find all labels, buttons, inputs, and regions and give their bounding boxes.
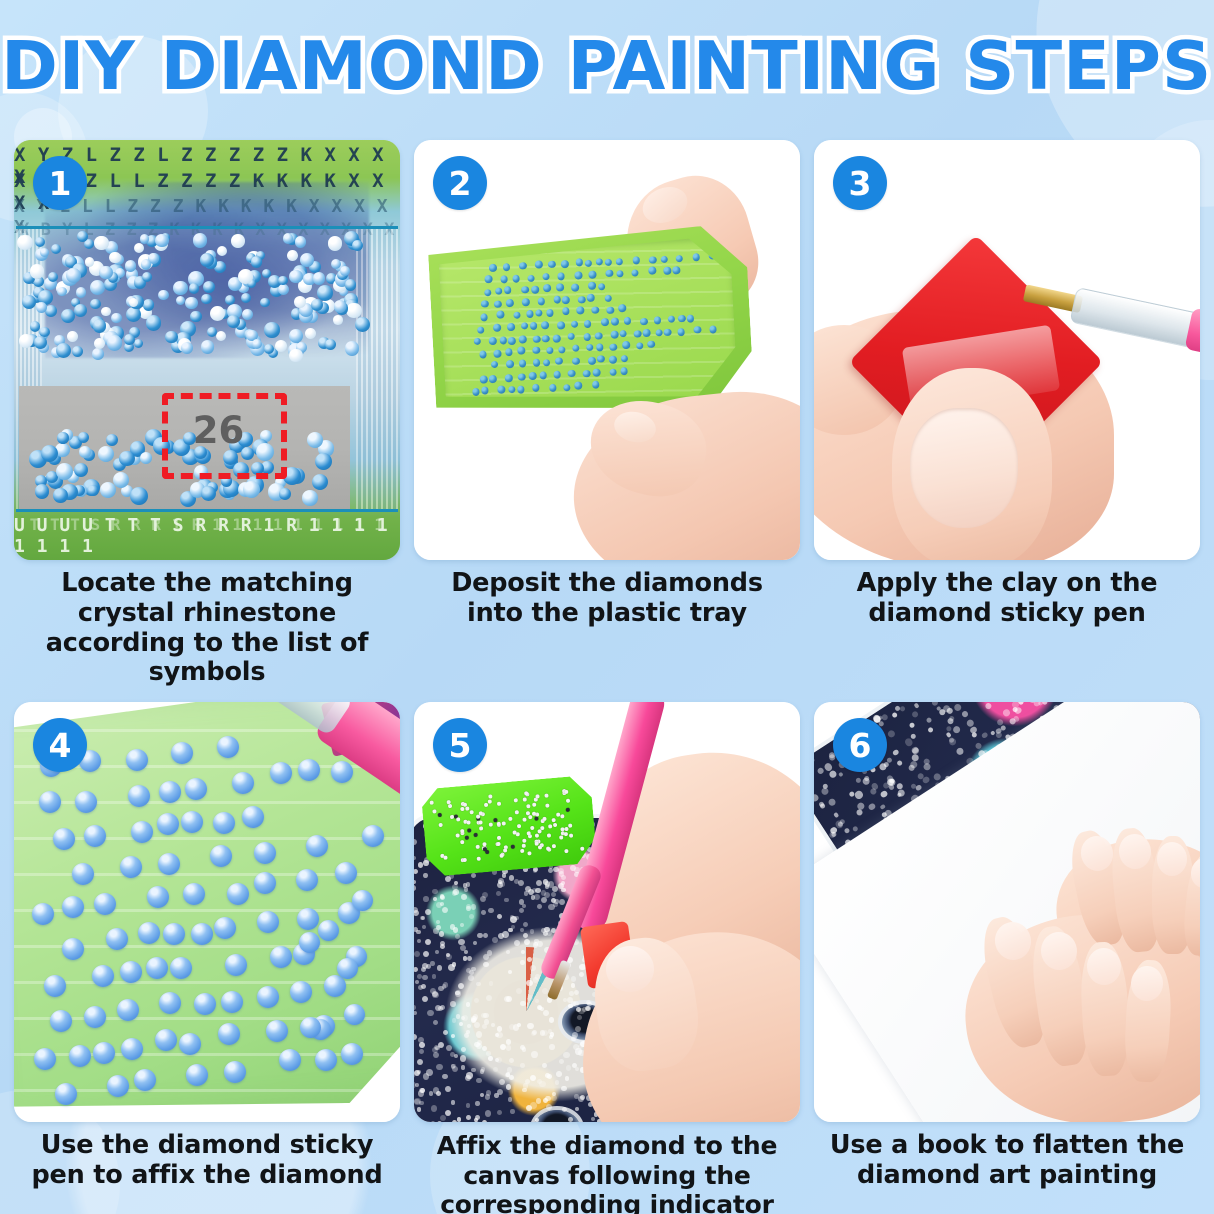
step-image-5: 5 — [414, 702, 800, 1122]
diamond — [510, 845, 514, 849]
diamond-texture-dot — [535, 974, 541, 980]
diamond-texture-dot — [561, 881, 565, 885]
diamond — [87, 485, 99, 497]
diamond-texture-dot — [855, 777, 862, 784]
diamond-texture-dot — [566, 1065, 571, 1070]
diamond-texture-dot — [540, 1030, 546, 1036]
diamond-texture-dot — [522, 1088, 527, 1093]
diamond — [275, 340, 287, 352]
diamond — [610, 331, 618, 339]
diamond — [90, 280, 105, 295]
diamond-texture-dot — [414, 1005, 416, 1010]
diamond — [141, 259, 152, 270]
diamond — [430, 800, 434, 804]
diamond — [497, 802, 501, 806]
diamond-texture-dot — [495, 1122, 500, 1123]
diamond — [535, 261, 543, 269]
diamond — [69, 1045, 91, 1067]
diamond-texture-dot — [423, 860, 429, 866]
diamond-texture-dot — [927, 727, 934, 734]
diamond — [120, 961, 142, 983]
diamond — [106, 434, 119, 447]
diamond — [201, 340, 214, 353]
diamond-texture-dot — [519, 899, 525, 905]
diamond — [22, 295, 36, 309]
diamond — [593, 369, 601, 377]
diamond — [448, 804, 452, 808]
diamond-texture-dot — [430, 988, 436, 994]
diamond-texture-dot — [587, 1002, 591, 1006]
diamond-texture-dot — [440, 944, 445, 949]
diamond-texture-dot — [573, 1001, 579, 1007]
diamond-texture-dot — [461, 894, 467, 900]
diamond-texture-dot — [498, 878, 504, 884]
diamond — [200, 253, 214, 267]
diamond-texture-dot — [422, 925, 427, 930]
diamond-texture-dot — [443, 982, 448, 987]
diamond — [341, 1043, 363, 1065]
diamond-texture-dot — [423, 873, 428, 878]
diamond-texture-dot — [440, 1115, 446, 1121]
diamond — [576, 307, 584, 315]
diamond-texture-dot — [458, 939, 464, 945]
diamond-texture-dot — [486, 1090, 491, 1095]
diamond-texture-dot — [568, 1004, 573, 1009]
diamond — [155, 1029, 177, 1051]
diamond-texture-dot — [867, 802, 876, 811]
diamond — [163, 923, 185, 945]
diamond — [544, 794, 548, 798]
diamond — [514, 798, 518, 802]
diamond — [147, 886, 169, 908]
diamond — [663, 267, 671, 275]
diamond-texture-dot — [533, 869, 537, 873]
diamond — [552, 818, 556, 822]
diamond — [74, 463, 88, 477]
diamond — [217, 736, 239, 758]
diamond — [287, 250, 298, 261]
diamond — [128, 785, 150, 807]
diamond-texture-dot — [892, 749, 900, 757]
step-caption-1: Locate the matching crystal rhinestone a… — [14, 560, 400, 688]
diamond — [193, 233, 208, 248]
diamond-texture-dot — [427, 1010, 433, 1016]
diamond — [305, 328, 316, 339]
diamond — [302, 490, 318, 506]
diamond — [134, 339, 143, 348]
diamond — [325, 339, 336, 350]
bag-beads-top — [16, 229, 398, 386]
diamond — [295, 236, 307, 248]
diamond-texture-dot — [922, 776, 931, 785]
diamond — [279, 488, 291, 500]
diamond — [596, 343, 604, 351]
diamond — [522, 817, 526, 821]
diamond — [541, 321, 549, 329]
diamond-texture-dot — [443, 1030, 448, 1035]
diamond — [518, 373, 526, 381]
diamond — [438, 813, 442, 817]
diamond — [94, 236, 108, 250]
diamond — [84, 825, 106, 847]
diamond — [548, 260, 556, 268]
diamond-texture-dot — [544, 892, 550, 898]
diamond — [563, 384, 571, 392]
diamond-texture-dot — [856, 809, 864, 817]
diamond — [592, 380, 600, 388]
diamond-texture-dot — [414, 885, 416, 891]
diamond — [456, 834, 460, 838]
diamond-texture-dot — [913, 703, 919, 709]
diamond — [606, 306, 614, 314]
diamond-texture-dot — [520, 1063, 525, 1068]
diamond — [504, 286, 512, 294]
page-title: DIY DIAMOND PAINTING STEPS — [0, 16, 1214, 116]
diamond — [489, 337, 497, 345]
step-image-2: 2 — [414, 140, 800, 560]
diamond-texture-dot — [426, 964, 431, 969]
diamond — [498, 385, 506, 393]
diamond-texture-dot — [421, 916, 425, 920]
diamond — [294, 296, 306, 308]
diamond — [522, 844, 526, 848]
diamond-texture-dot — [480, 896, 486, 902]
diamond — [146, 315, 162, 331]
diamond — [546, 309, 554, 317]
step-badge-2: 2 — [433, 156, 487, 210]
diamond-texture-dot — [994, 731, 1003, 740]
diamond-texture-dot — [551, 892, 556, 897]
diamond-texture-dot — [891, 712, 898, 719]
diamond — [556, 283, 564, 291]
diamond — [260, 298, 270, 308]
diamond — [473, 833, 477, 837]
diamond-texture-dot — [420, 1088, 425, 1093]
diamond — [506, 360, 514, 368]
diamond-texture-dot — [414, 1011, 417, 1015]
diamond-texture-dot — [457, 1117, 461, 1121]
diamond-texture-dot — [450, 1001, 456, 1007]
diamond-texture-dot — [549, 1044, 554, 1049]
diamond-texture-dot — [415, 980, 419, 984]
diamond — [564, 850, 568, 854]
diamond-texture-dot — [543, 1098, 548, 1103]
diamond-texture-dot — [476, 982, 481, 987]
diamond-texture-dot — [531, 1051, 537, 1057]
diamond — [692, 253, 700, 261]
diamond-texture-dot — [548, 904, 554, 910]
diamond — [555, 357, 563, 365]
diamond — [93, 319, 106, 332]
diamond — [432, 810, 436, 814]
diamond — [331, 259, 341, 269]
diamond-texture-dot — [551, 1095, 557, 1101]
diamond-texture-dot — [460, 923, 465, 928]
diamond-texture-dot — [540, 1007, 544, 1011]
diamond — [494, 350, 502, 358]
diamond — [19, 334, 33, 348]
diamond — [243, 481, 260, 498]
diamond-texture-dot — [466, 882, 471, 887]
diamond-texture-dot — [510, 916, 517, 923]
diamond — [266, 1020, 288, 1042]
diamond — [693, 326, 701, 334]
diamond — [622, 341, 630, 349]
diamond-texture-dot — [483, 954, 489, 960]
diamond — [39, 791, 61, 813]
diamond — [218, 1023, 240, 1045]
diamond — [53, 488, 68, 503]
diamond-texture-dot — [421, 967, 426, 972]
diamond — [313, 272, 326, 285]
step-image-6: 6 — [814, 702, 1200, 1122]
diamond-texture-dot — [575, 1026, 581, 1032]
step-badge-4: 4 — [33, 718, 87, 772]
diamond — [100, 482, 116, 498]
diamond — [76, 287, 87, 298]
diamond — [270, 762, 292, 784]
diamond — [543, 284, 551, 292]
diamond — [588, 282, 596, 290]
diamond — [119, 451, 135, 467]
diamond — [518, 359, 526, 367]
diamond — [496, 311, 504, 319]
diamond — [134, 243, 144, 253]
diamond — [450, 815, 454, 819]
diamond — [597, 355, 605, 363]
diamond-texture-dot — [534, 894, 540, 900]
diamond — [214, 917, 236, 939]
diamond-texture-dot — [485, 1110, 491, 1116]
diamond-texture-dot — [514, 879, 519, 884]
diamond — [362, 825, 384, 847]
diamond — [484, 275, 492, 283]
diamond — [520, 849, 524, 853]
diamond — [311, 299, 323, 311]
diamond — [111, 313, 122, 324]
step-caption-6: Use a book to flatten the diamond art pa… — [814, 1122, 1200, 1191]
page-title-text: DIY DIAMOND PAINTING STEPS — [1, 27, 1212, 105]
diamond-texture-dot — [497, 914, 502, 919]
diamond — [251, 256, 263, 268]
diamond-texture-dot — [520, 1001, 526, 1007]
diamond-texture-dot — [481, 1067, 485, 1071]
diamond — [472, 388, 480, 396]
diamond-texture-dot — [414, 869, 418, 874]
step-badge-3: 3 — [833, 156, 887, 210]
diamond-texture-dot — [451, 1100, 456, 1105]
diamond — [561, 260, 569, 268]
diamond-texture-dot — [909, 722, 916, 729]
diamond — [634, 330, 642, 338]
diamond-texture-dot — [508, 1097, 513, 1102]
diamond-texture-dot — [483, 933, 488, 938]
diamond-texture-dot — [561, 1086, 567, 1092]
diamond — [306, 835, 328, 857]
diamond — [75, 791, 97, 813]
diamond — [171, 742, 193, 764]
diamond-texture-dot — [450, 924, 456, 930]
diamond — [32, 903, 54, 925]
diamond-texture-dot — [475, 1115, 480, 1120]
step-badge-1: 1 — [33, 156, 87, 210]
diamond — [143, 299, 155, 311]
diamond — [480, 313, 488, 321]
diamond-texture-dot — [561, 875, 566, 880]
diamond — [545, 804, 549, 808]
diamond-texture-dot — [911, 711, 919, 719]
diamond — [606, 269, 614, 277]
step-card-3: 3 Apply the clay on the diamond sticky p… — [814, 140, 1200, 688]
fingernail — [606, 946, 654, 992]
diamond-texture-dot — [838, 772, 844, 778]
diamond — [183, 883, 205, 905]
diamond — [107, 335, 123, 351]
diamond — [664, 328, 672, 336]
diamond — [489, 375, 497, 383]
diamond-texture-dot — [469, 914, 475, 920]
diamond — [50, 1010, 72, 1032]
diamond — [264, 344, 274, 354]
diamond — [35, 484, 50, 499]
diamond — [532, 359, 540, 367]
diamond-texture-dot — [430, 961, 435, 966]
diamond-texture-dot — [471, 967, 476, 972]
diamond — [299, 932, 320, 953]
diamond-texture-dot — [423, 896, 428, 901]
diamond — [34, 336, 47, 349]
diamond — [539, 371, 547, 379]
diamond — [90, 299, 101, 310]
diamond-texture-dot — [414, 856, 416, 860]
diamond-texture-dot — [844, 827, 851, 834]
diamond-texture-dot — [440, 895, 445, 900]
diamond — [467, 829, 471, 833]
diamond — [640, 317, 648, 325]
diamond-texture-dot — [442, 1074, 448, 1080]
diamond-texture-dot — [852, 825, 859, 832]
diamond-texture-dot — [526, 980, 532, 986]
diamond — [508, 816, 512, 820]
pen-clear-barrel — [1069, 287, 1200, 350]
diamond — [210, 845, 232, 867]
diamond — [588, 271, 596, 279]
diamond — [189, 283, 199, 293]
diamond-texture-dot — [980, 732, 988, 740]
diamond — [553, 371, 561, 379]
diamond — [574, 382, 582, 390]
diamond — [481, 387, 489, 395]
diamond — [523, 798, 527, 802]
diamond-texture-dot — [575, 1067, 579, 1071]
diamond — [553, 296, 561, 304]
diamond — [559, 836, 563, 840]
diamond — [499, 336, 507, 344]
diamond-texture-dot — [536, 880, 542, 886]
diamond — [500, 854, 504, 858]
symbol-row: U U U U T T T S R R R 1 R 1 1 1 1 1 1 1 … — [14, 515, 400, 557]
diamond-texture-dot — [553, 867, 558, 872]
diamond — [505, 374, 513, 382]
diamond — [345, 341, 360, 356]
diamond-texture-dot — [565, 1076, 570, 1081]
diamond — [66, 268, 82, 284]
diamond — [456, 817, 460, 821]
diamond-texture-dot — [452, 1120, 457, 1122]
diamond — [496, 836, 500, 840]
diamond — [335, 862, 357, 884]
diamond-texture-dot — [461, 1016, 465, 1020]
diamond-texture-dot — [440, 902, 444, 906]
diamond-texture-dot — [456, 1014, 460, 1018]
diamond — [334, 300, 347, 313]
diamond — [500, 275, 508, 283]
diamond — [578, 296, 586, 304]
steps-grid: X Y Z L Z Z L Z Z Z Z Z K X X X X X X Y … — [14, 140, 1200, 1214]
diamond — [526, 310, 534, 318]
diamond-texture-dot — [496, 1032, 502, 1038]
diamond — [507, 323, 515, 331]
diamond-texture-dot — [461, 1065, 465, 1069]
diamond — [201, 294, 211, 304]
diamond — [565, 799, 569, 803]
diamond-texture-dot — [474, 1022, 480, 1028]
diamond — [203, 281, 215, 293]
diamond-texture-dot — [431, 1105, 437, 1111]
diamond — [194, 993, 216, 1015]
diamond — [479, 827, 483, 831]
diamond — [460, 807, 464, 811]
diamond-texture-dot — [532, 888, 537, 893]
diamond-texture-dot — [495, 1058, 499, 1062]
diamond — [84, 1006, 106, 1028]
diamond — [346, 303, 362, 319]
diamond — [74, 304, 87, 317]
diamond — [124, 334, 135, 345]
diamond-texture-dot — [496, 891, 501, 896]
diamond — [487, 799, 491, 803]
diamond-texture-dot — [417, 939, 422, 944]
diamond-texture-dot — [466, 1115, 471, 1120]
diamond — [478, 820, 482, 824]
diamond — [518, 347, 526, 355]
diamond — [480, 375, 488, 383]
diamond-texture-dot — [519, 908, 524, 913]
diamond-texture-dot — [414, 880, 416, 884]
diamond — [317, 285, 333, 301]
diamond — [623, 317, 631, 325]
diamond — [506, 299, 514, 307]
diamond — [254, 842, 276, 864]
diamond — [159, 781, 181, 803]
diamond — [72, 346, 83, 357]
diamond — [584, 320, 592, 328]
diamond — [618, 304, 626, 312]
diamond — [227, 883, 249, 905]
diamond — [488, 822, 492, 826]
diamond-texture-dot — [471, 904, 477, 910]
diamond-texture-dot — [510, 1109, 514, 1113]
diamond-texture-dot — [578, 1008, 584, 1014]
diamond — [552, 844, 556, 848]
plastic-tray — [420, 775, 597, 877]
diamond — [619, 329, 627, 337]
diamond-texture-dot — [466, 1103, 471, 1108]
diamond — [216, 331, 226, 341]
diamond-texture-dot — [482, 1120, 487, 1122]
diamond-texture-dot — [530, 929, 535, 934]
fingernail — [1157, 842, 1187, 876]
